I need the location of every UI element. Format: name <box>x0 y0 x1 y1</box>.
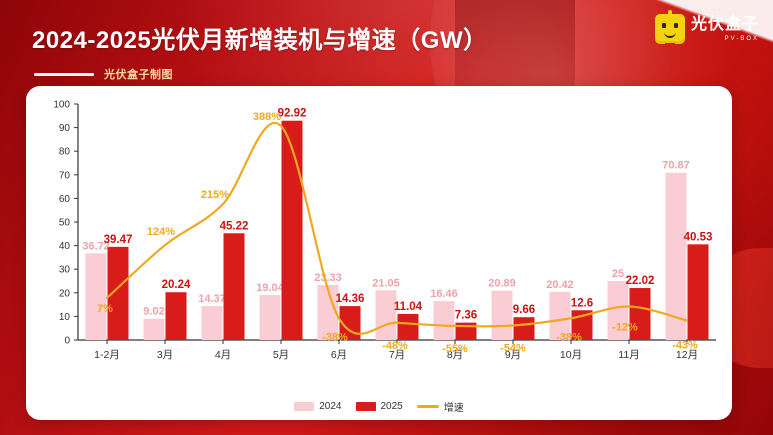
bar-label-2024: 20.42 <box>546 279 574 291</box>
growth-label: -12% <box>612 322 638 334</box>
legend-color-swatch <box>356 402 376 411</box>
subtitle-group: 光伏盒子制图 <box>34 66 173 82</box>
legend-item[interactable]: 2025 <box>356 401 403 412</box>
bar-2025 <box>514 317 535 340</box>
growth-label: -54% <box>500 342 526 354</box>
bar-label-2024: 21.05 <box>372 277 400 289</box>
growth-label: -55% <box>442 343 468 355</box>
chart-plot: 01020304050607080901001-2月36.7239.473月9.… <box>26 86 732 384</box>
logo-name-en: PV-BOX <box>725 36 759 42</box>
y-tick-label: 40 <box>59 241 71 252</box>
bar-label-2025: 12.6 <box>571 297 593 309</box>
logo-name-cn: 光伏盒子 <box>691 17 759 33</box>
x-tick-label: 1-2月 <box>94 349 120 361</box>
bar-label-2024: 19.04 <box>256 282 284 294</box>
subtitle-rule <box>34 73 94 76</box>
x-tick-label: 3月 <box>157 349 173 361</box>
bar-label-2025: 20.24 <box>162 279 191 291</box>
legend-label: 2025 <box>381 401 403 412</box>
bar-2024 <box>492 291 513 340</box>
chart-legend: 20242025增速 <box>26 399 732 414</box>
bar-label-2024: 23.33 <box>314 272 342 284</box>
bar-label-2025: 39.47 <box>104 234 133 246</box>
bar-2024 <box>86 253 107 340</box>
chart-card: 01020304050607080901001-2月36.7239.473月9.… <box>26 86 732 420</box>
legend-line-swatch <box>417 405 439 408</box>
bar-label-2025: 14.36 <box>336 293 365 305</box>
page-title: 2024-2025光伏月新增装机与增速（GW） <box>32 20 488 55</box>
bar-2025 <box>166 292 187 340</box>
x-tick-label: 5月 <box>273 349 289 361</box>
bar-2025 <box>224 233 245 340</box>
bar-2024 <box>376 290 397 340</box>
bar-2025 <box>688 244 709 340</box>
growth-label: -38% <box>556 331 582 343</box>
growth-label: 7% <box>97 303 113 315</box>
bar-label-2025: 45.22 <box>220 220 249 232</box>
bar-2024 <box>144 319 165 340</box>
bar-label-2025: 92.92 <box>278 108 307 120</box>
y-tick-label: 30 <box>59 265 71 276</box>
bar-2025 <box>282 121 303 340</box>
brand-logo: 光伏盒子 PV-BOX <box>655 14 759 44</box>
x-tick-label: 10月 <box>560 349 582 361</box>
bar-label-2025: 11.04 <box>394 301 423 313</box>
bar-2024 <box>202 306 223 340</box>
bar-2025 <box>398 314 419 340</box>
legend-color-swatch <box>294 402 314 411</box>
subtitle-text: 光伏盒子制图 <box>104 66 173 82</box>
x-tick-label: 11月 <box>618 349 639 361</box>
legend-item[interactable]: 增速 <box>417 399 464 414</box>
y-tick-label: 90 <box>59 123 71 134</box>
growth-label: 124% <box>147 226 175 238</box>
legend-label: 2024 <box>319 401 341 412</box>
bar-label-2024: 16.46 <box>430 288 458 300</box>
y-tick-label: 0 <box>64 336 70 347</box>
logo-text: 光伏盒子 PV-BOX <box>691 17 759 42</box>
growth-label: -48% <box>382 340 408 352</box>
bar-label-2025: 40.53 <box>684 231 713 243</box>
y-tick-label: 20 <box>59 288 71 299</box>
bar-2024 <box>434 301 455 340</box>
y-tick-label: 50 <box>59 218 71 229</box>
growth-label: 388% <box>253 111 281 123</box>
bar-label-2024: 25 <box>612 268 624 280</box>
bar-label-2025: 22.02 <box>626 275 655 287</box>
growth-label: -38% <box>322 331 348 343</box>
x-tick-label: 4月 <box>215 349 231 361</box>
x-tick-label: 6月 <box>331 349 347 361</box>
bar-label-2024: 70.87 <box>662 160 690 172</box>
y-tick-label: 100 <box>53 100 70 111</box>
legend-label: 增速 <box>444 399 464 414</box>
growth-label: -43% <box>672 340 698 352</box>
legend-item[interactable]: 2024 <box>294 401 341 412</box>
bar-label-2024: 20.89 <box>488 278 516 290</box>
bar-label-2024: 14.37 <box>198 293 226 305</box>
bar-label-2025: 9.66 <box>513 304 535 316</box>
bar-2024 <box>260 295 281 340</box>
bar-label-2024: 9.02 <box>143 306 164 318</box>
chart-page: 2024-2025光伏月新增装机与增速（GW） 光伏盒子制图 光伏盒子 PV-B… <box>0 0 773 435</box>
y-tick-label: 70 <box>59 170 71 181</box>
box-face-icon <box>655 14 685 44</box>
bar-label-2025: 7.36 <box>455 310 477 322</box>
growth-label: 215% <box>201 189 229 201</box>
y-tick-label: 80 <box>59 147 71 158</box>
y-tick-label: 60 <box>59 194 71 205</box>
y-tick-label: 10 <box>59 312 71 323</box>
